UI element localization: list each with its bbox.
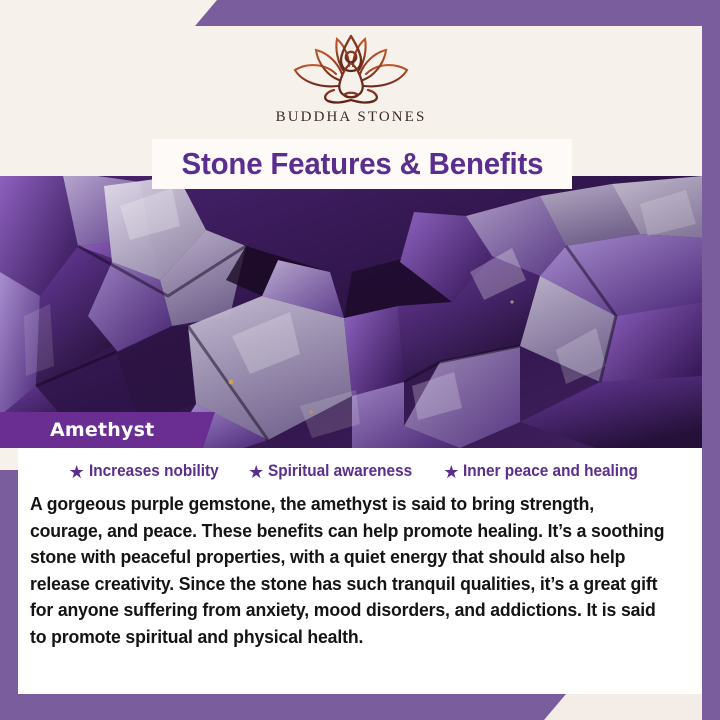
lotus-meditation-icon — [276, 30, 426, 106]
stone-name: Amethyst — [0, 419, 154, 441]
benefit-label: Spiritual awareness — [268, 462, 412, 481]
stone-name-badge: Amethyst — [0, 412, 215, 448]
benefit-label: Increases nobility — [89, 462, 219, 481]
frame-bottom-accent — [0, 694, 566, 720]
brand-name: BUDDHA STONES — [276, 109, 427, 126]
benefit-item-0: ★ Increases nobility — [69, 462, 229, 481]
page-title-band: Stone Features & Benefits — [152, 139, 572, 189]
benefits-list: ★ Increases nobility ★ Spiritual awarene… — [18, 448, 702, 481]
page-title: Stone Features & Benefits — [181, 146, 543, 182]
frame-top-accent — [195, 0, 720, 26]
frame-left-accent — [0, 470, 18, 720]
star-icon: ★ — [443, 463, 459, 481]
frame-top — [0, 0, 720, 26]
gemstone-hero-image: Amethyst — [0, 176, 702, 448]
frame-right-accent — [702, 0, 720, 720]
amethyst-crystal-cluster-illustration — [0, 176, 702, 448]
benefit-label: Inner peace and healing — [463, 462, 638, 481]
star-icon: ★ — [69, 463, 85, 481]
product-info-poster: BUDDHA STONES Stone Features & Benefits — [0, 0, 720, 720]
stone-details-panel: ★ Increases nobility ★ Spiritual awarene… — [18, 448, 702, 694]
benefit-item-1: ★ Spiritual awareness — [248, 462, 423, 481]
poster-header: BUDDHA STONES Stone Features & Benefits — [0, 26, 702, 176]
stone-description: A gorgeous purple gemstone, the amethyst… — [30, 491, 669, 650]
star-icon: ★ — [248, 463, 264, 481]
benefit-item-2: ★ Inner peace and healing — [443, 462, 651, 481]
brand-logo: BUDDHA STONES — [0, 30, 702, 126]
